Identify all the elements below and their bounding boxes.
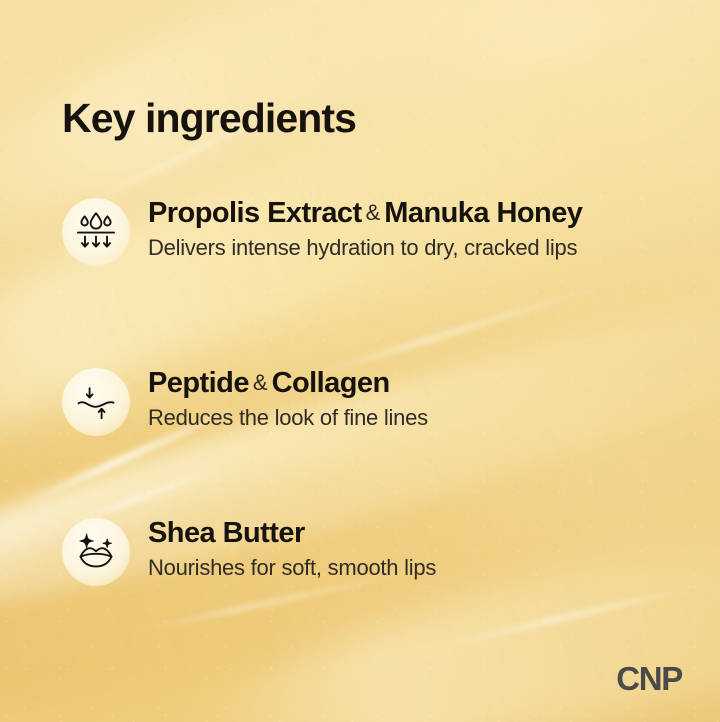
- key-ingredients-graphic: Key ingredients: [0, 0, 720, 722]
- ingredient-description: Delivers intense hydration to dry, crack…: [148, 234, 582, 263]
- ingredient-connector: &: [362, 200, 385, 225]
- brand-logo: CNP: [616, 660, 682, 698]
- ingredient-item: Shea Butter Nourishes for soft, smooth l…: [62, 518, 436, 586]
- ingredient-description: Reduces the look of fine lines: [148, 404, 428, 433]
- ingredient-item: Propolis Extract&Manuka Honey Delivers i…: [62, 198, 582, 266]
- ingredient-title: Propolis Extract&Manuka Honey: [148, 198, 582, 229]
- ingredient-name-primary: Peptide: [148, 367, 249, 399]
- ingredient-name-primary: Propolis Extract: [148, 197, 362, 229]
- ingredient-name-secondary: Collagen: [272, 367, 390, 399]
- ingredient-text: Shea Butter Nourishes for soft, smooth l…: [148, 518, 436, 583]
- ingredient-name-primary: Shea Butter: [148, 517, 305, 549]
- ingredient-connector: [305, 520, 313, 545]
- ingredient-text: Propolis Extract&Manuka Honey Delivers i…: [148, 198, 582, 263]
- ingredient-title: Peptide&Collagen: [148, 368, 428, 399]
- hydration-droplets-icon: [62, 198, 130, 266]
- ingredient-item: Peptide&Collagen Reduces the look of fin…: [62, 368, 428, 436]
- ingredient-connector: &: [249, 370, 272, 395]
- ingredient-name-secondary: Manuka Honey: [384, 197, 582, 229]
- ingredient-title: Shea Butter: [148, 518, 436, 549]
- page-title: Key ingredients: [62, 95, 356, 142]
- fine-lines-wave-icon: [62, 368, 130, 436]
- ingredient-description: Nourishes for soft, smooth lips: [148, 554, 436, 583]
- ingredient-text: Peptide&Collagen Reduces the look of fin…: [148, 368, 428, 433]
- sparkling-lips-icon: [62, 518, 130, 586]
